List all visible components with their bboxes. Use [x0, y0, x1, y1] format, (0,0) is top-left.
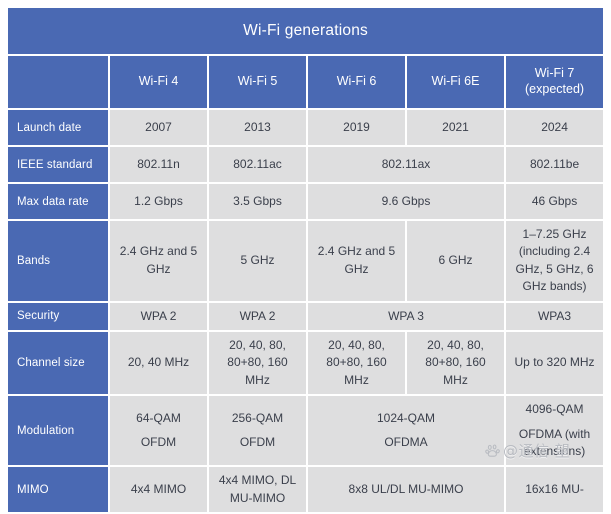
- cell-bands-wifi6e: 6 GHz: [405, 221, 504, 303]
- cell-bands-wifi4: 2.4 GHz and 5 GHz: [108, 221, 207, 303]
- column-header-wifi7-line1: Wi-Fi 7: [510, 66, 599, 82]
- table-row-ieee-standard: IEEE standard 802.11n 802.11ac 802.11ax …: [8, 147, 603, 184]
- table-title: Wi-Fi generations: [8, 8, 603, 56]
- cell-mimo-wifi6-6e: 8x8 UL/DL MU-MIMO: [306, 467, 504, 514]
- cell-launch-date-wifi4: 2007: [108, 110, 207, 147]
- table-title-row: Wi-Fi generations: [8, 8, 603, 56]
- table-row-modulation: Modulation 64-QAM OFDM 256-QAM OFDM 1024…: [8, 396, 603, 467]
- cell-launch-date-wifi7: 2024: [504, 110, 603, 147]
- column-header-wifi6e: Wi-Fi 6E: [405, 56, 504, 110]
- cell-rate-wifi5: 3.5 Gbps: [207, 184, 306, 221]
- cell-channel-wifi7: Up to 320 MHz: [504, 332, 603, 396]
- row-label-ieee-standard: IEEE standard: [8, 147, 108, 184]
- cell-bands-wifi6: 2.4 GHz and 5 GHz: [306, 221, 405, 303]
- row-label-modulation: Modulation: [8, 396, 108, 467]
- cell-launch-date-wifi5: 2013: [207, 110, 306, 147]
- table-row-bands: Bands 2.4 GHz and 5 GHz 5 GHz 2.4 GHz an…: [8, 221, 603, 303]
- row-label-mimo: MIMO: [8, 467, 108, 514]
- cell-modulation-wifi4-line2: OFDM: [115, 434, 202, 451]
- table-row-mimo: MIMO 4x4 MIMO 4x4 MIMO, DL MU-MIMO 8x8 U…: [8, 467, 603, 514]
- cell-security-wifi7: WPA3: [504, 303, 603, 332]
- table-row-launch-date: Launch date 2007 2013 2019 2021 2024: [8, 110, 603, 147]
- column-header-blank: [8, 56, 108, 110]
- cell-mimo-wifi4: 4x4 MIMO: [108, 467, 207, 514]
- wifi-generations-table: Wi-Fi generations Wi-Fi 4 Wi-Fi 5 Wi-Fi …: [8, 8, 603, 514]
- cell-security-wifi5: WPA 2: [207, 303, 306, 332]
- column-header-wifi5: Wi-Fi 5: [207, 56, 306, 110]
- cell-rate-wifi4: 1.2 Gbps: [108, 184, 207, 221]
- cell-channel-wifi4: 20, 40 MHz: [108, 332, 207, 396]
- cell-channel-wifi6e: 20, 40, 80, 80+80, 160 MHz: [405, 332, 504, 396]
- cell-ieee-wifi4: 802.11n: [108, 147, 207, 184]
- cell-bands-wifi7: 1–7.25 GHz (including 2.4 GHz, 5 GHz, 6 …: [504, 221, 603, 303]
- row-label-channel-size: Channel size: [8, 332, 108, 396]
- cell-channel-wifi6: 20, 40, 80, 80+80, 160 MHz: [306, 332, 405, 396]
- cell-modulation-wifi6-6e-line1: 1024-QAM: [313, 410, 499, 427]
- cell-security-wifi4: WPA 2: [108, 303, 207, 332]
- cell-ieee-wifi7: 802.11be: [504, 147, 603, 184]
- cell-modulation-wifi7-line1: 4096-QAM: [511, 401, 598, 418]
- cell-launch-date-wifi6e: 2021: [405, 110, 504, 147]
- cell-modulation-wifi7: 4096-QAM OFDMA (with extensions): [504, 396, 603, 467]
- cell-modulation-wifi7-line2: OFDMA (with extensions): [511, 426, 598, 461]
- page-root: Wi-Fi generations Wi-Fi 4 Wi-Fi 5 Wi-Fi …: [0, 0, 611, 474]
- column-header-wifi6: Wi-Fi 6: [306, 56, 405, 110]
- cell-modulation-wifi5-line1: 256-QAM: [214, 410, 301, 427]
- row-label-bands: Bands: [8, 221, 108, 303]
- table-row-channel-size: Channel size 20, 40 MHz 20, 40, 80, 80+8…: [8, 332, 603, 396]
- table-header-row: Wi-Fi 4 Wi-Fi 5 Wi-Fi 6 Wi-Fi 6E Wi-Fi 7…: [8, 56, 603, 110]
- cell-modulation-wifi5: 256-QAM OFDM: [207, 396, 306, 467]
- table-row-security: Security WPA 2 WPA 2 WPA 3 WPA3: [8, 303, 603, 332]
- cell-rate-wifi6-6e: 9.6 Gbps: [306, 184, 504, 221]
- cell-channel-wifi5: 20, 40, 80, 80+80, 160 MHz: [207, 332, 306, 396]
- column-header-wifi7: Wi-Fi 7 (expected): [504, 56, 603, 110]
- cell-mimo-wifi5: 4x4 MIMO, DL MU-MIMO: [207, 467, 306, 514]
- row-label-max-data-rate: Max data rate: [8, 184, 108, 221]
- cell-modulation-wifi6-6e-line2: OFDMA: [313, 434, 499, 451]
- cell-modulation-wifi5-line2: OFDM: [214, 434, 301, 451]
- cell-ieee-wifi5: 802.11ac: [207, 147, 306, 184]
- row-label-launch-date: Launch date: [8, 110, 108, 147]
- cell-launch-date-wifi6: 2019: [306, 110, 405, 147]
- cell-bands-wifi5: 5 GHz: [207, 221, 306, 303]
- column-header-wifi7-line2: (expected): [510, 82, 599, 98]
- cell-mimo-wifi7: 16x16 MU-: [504, 467, 603, 514]
- table-row-max-data-rate: Max data rate 1.2 Gbps 3.5 Gbps 9.6 Gbps…: [8, 184, 603, 221]
- cell-modulation-wifi4-line1: 64-QAM: [115, 410, 202, 427]
- row-label-security: Security: [8, 303, 108, 332]
- cell-modulation-wifi6-6e: 1024-QAM OFDMA: [306, 396, 504, 467]
- cell-security-wifi6-6e: WPA 3: [306, 303, 504, 332]
- column-header-wifi4: Wi-Fi 4: [108, 56, 207, 110]
- cell-ieee-wifi6-6e: 802.11ax: [306, 147, 504, 184]
- cell-rate-wifi7: 46 Gbps: [504, 184, 603, 221]
- cell-modulation-wifi4: 64-QAM OFDM: [108, 396, 207, 467]
